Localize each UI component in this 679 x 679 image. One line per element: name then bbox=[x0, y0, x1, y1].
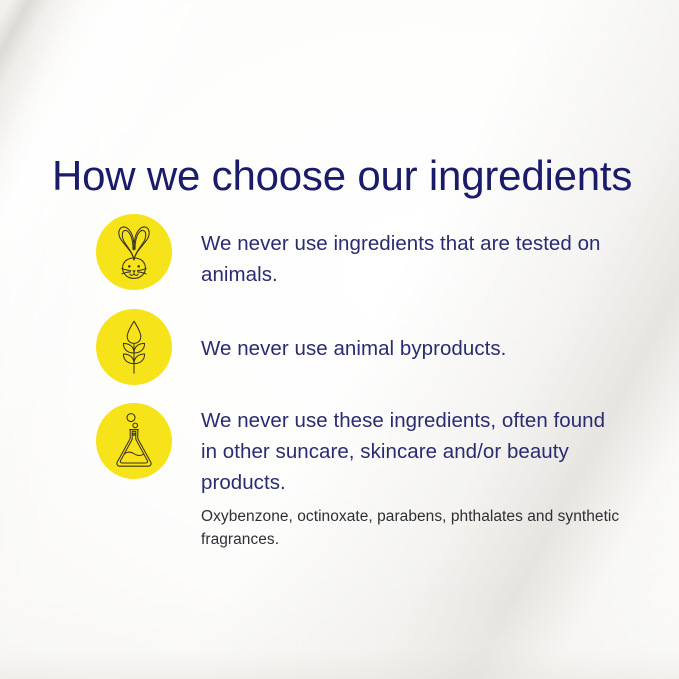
icon-badge-cruelty-free bbox=[96, 214, 172, 290]
list-item-text-block: We never use animal byproducts. bbox=[201, 333, 621, 364]
plant-sprig-leaf-icon bbox=[113, 319, 155, 375]
list-item-subtext: Oxybenzone, octinoxate, parabens, phthal… bbox=[201, 505, 621, 551]
list-item-text-block: We never use ingredients that are tested… bbox=[201, 228, 621, 290]
list-item-label: We never use animal byproducts. bbox=[201, 333, 621, 364]
icon-badge-vegan bbox=[96, 309, 172, 385]
list-item-label: We never use ingredients that are tested… bbox=[201, 228, 621, 290]
ingredients-infographic: How we choose our ingredients bbox=[0, 0, 679, 679]
erlenmeyer-flask-icon bbox=[112, 412, 156, 470]
bunny-heart-ears-icon bbox=[111, 224, 157, 280]
list-item-text-block: We never use these ingredients, often fo… bbox=[201, 405, 621, 551]
list-item-label: We never use these ingredients, often fo… bbox=[201, 405, 621, 498]
page-title: How we choose our ingredients bbox=[52, 150, 632, 202]
content-area: How we choose our ingredients bbox=[0, 0, 679, 679]
icon-badge-no-chemicals bbox=[96, 403, 172, 479]
